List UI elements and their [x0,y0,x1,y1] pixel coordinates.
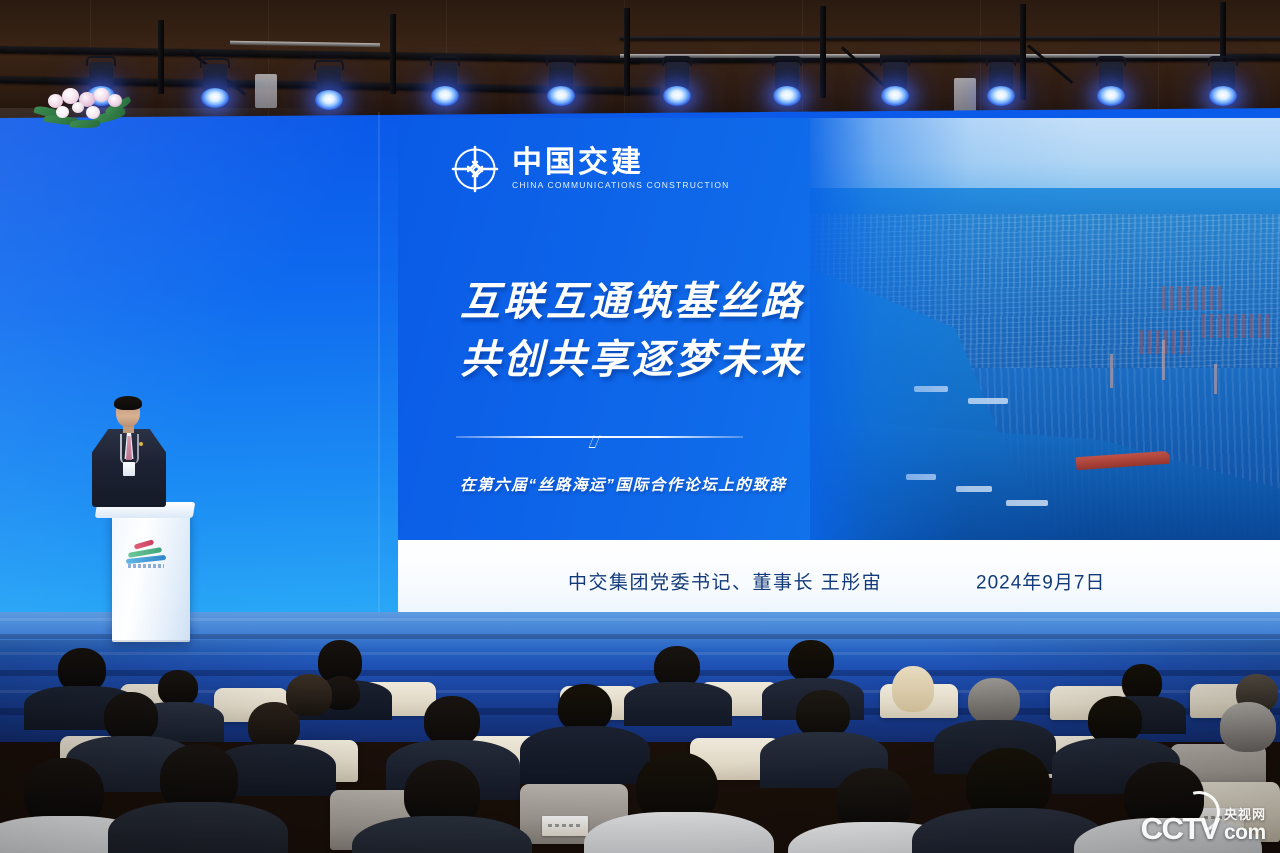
id-badge [123,462,135,476]
brand-name-cn: 中国交建 [512,148,729,178]
podium-flower-arrangement [34,82,130,128]
lapel-pin-icon [139,442,143,446]
slide-title: 互联互通筑基丝路 共创共享逐梦未来 [460,273,880,389]
audience-area [0,640,1280,853]
cccc-interchange-logo-icon [450,144,500,194]
slide-title-line-1: 互联互通筑基丝路 [460,273,880,331]
ceiling-speaker-box [255,74,277,108]
ceiling-speaker-box [954,78,976,112]
conference-stage-screenshot: 中国交建 CHINA COMMUNICATIONS CONSTRUCTION 互… [0,0,1280,853]
table-name-card [542,816,588,836]
backdrop-seam [378,112,380,632]
brand-lockup: 中国交建 CHINA COMMUNICATIONS CONSTRUCTION [450,144,729,194]
led-presentation-screen: 中国交建 CHINA COMMUNICATIONS CONSTRUCTION 互… [398,118,1280,621]
slide-date: 2024年9月7日 [976,567,1105,594]
podium-forum-logo-icon [124,540,168,574]
lanyard [120,434,139,464]
podium-body [112,512,190,642]
watermark-domain: com [1224,822,1266,843]
slide-footer-band: 中交集团党委书记、董事长 王彤宙 2024年9月7日 [398,540,1280,621]
watermark-cn: 央视网 [1224,808,1266,821]
speaker-person [92,398,166,510]
slide-title-line-2: 共创共享逐梦未来 [460,331,880,389]
slide-subtitle: 在第六届“丝路海运”国际合作论坛上的致辞 [460,473,880,495]
brand-name-en: CHINA COMMUNICATIONS CONSTRUCTION [512,180,729,190]
aerial-port-photo [810,118,1280,540]
slide-speaker-credit: 中交集团党委书记、董事长 王彤宙 [568,567,882,594]
title-divider-ornament [456,431,743,443]
cctv-watermark: CCTV 央视网 com [1141,808,1266,843]
watermark-brand: CCTV [1141,815,1219,843]
